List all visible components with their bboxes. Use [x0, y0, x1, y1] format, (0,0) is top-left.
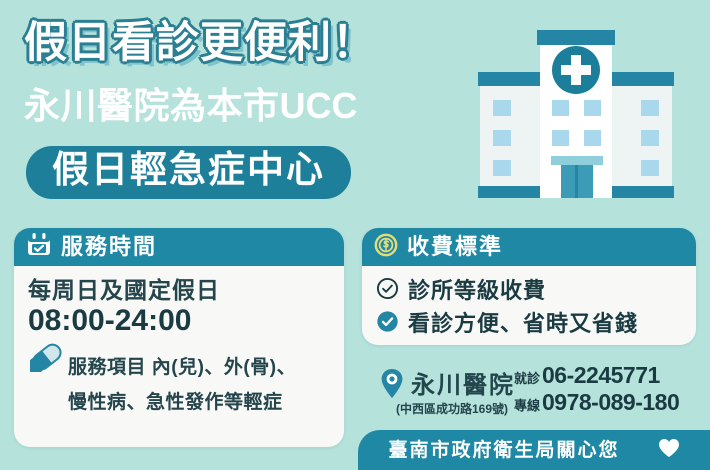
service-name-badge: 假日輕急症中心	[26, 146, 351, 199]
phone-label: 專線	[514, 399, 540, 414]
map-pin-icon	[380, 368, 404, 404]
heart-icon	[658, 438, 680, 463]
pill-capsule-icon	[30, 342, 64, 377]
fee-item-row: 看診方便、省時又省錢	[376, 310, 682, 338]
service-days: 每周日及國定假日	[28, 276, 330, 305]
phone-label: 就診	[514, 372, 540, 387]
hero-subtitle-en: UCC	[280, 85, 358, 126]
hero-section: 假日看診更便利！ 永川醫院為本市UCC 假日輕急症中心	[0, 0, 470, 222]
phone-row: 就診 06-2245771	[514, 364, 679, 387]
service-hours-card-body: 每周日及國定假日 08:00-24:00 服務項目 內(兒)、外(骨)、 慢性病…	[14, 266, 344, 422]
contact-section: 永川醫院 (中西區成功路169號) 就診 06-2245771 專線 0978-…	[372, 358, 702, 420]
poster-root: 假日看診更便利！ 永川醫院為本市UCC 假日輕急症中心	[0, 0, 710, 470]
calendar-check-icon	[26, 232, 52, 263]
fee-item-row: 診所等級收費	[376, 277, 682, 305]
fee-standard-card: 收費標準 診所等級收費 看診方便、省時又省	[362, 228, 696, 345]
hospital-building-icon	[458, 8, 694, 220]
phone-number[interactable]: 06-2245771	[542, 364, 660, 387]
service-hours-card-header: 服務時間	[14, 228, 344, 266]
fee-standard-card-header: 收費標準	[362, 228, 696, 266]
clinic-name: 永川醫院	[411, 374, 515, 398]
fee-item-label: 看診方便、省時又省錢	[408, 313, 638, 335]
service-time-range: 08:00-24:00	[28, 304, 330, 339]
page-title: 假日看診更便利！	[24, 22, 376, 65]
fee-item-label: 診所等級收費	[408, 280, 546, 302]
hero-subtitle: 永川醫院為本市UCC	[24, 88, 358, 124]
footer-bar: 臺南市政府衛生局關心您	[358, 430, 710, 470]
service-items-block: 服務項目 內(兒)、外(骨)、 慢性病、急性發作等輕症	[28, 342, 330, 414]
dollar-coin-icon	[374, 233, 398, 262]
phone-list: 就診 06-2245771 專線 0978-089-180	[514, 364, 679, 418]
footer-text: 臺南市政府衛生局關心您	[388, 441, 619, 460]
fee-standard-card-body: 診所等級收費 看診方便、省時又省錢	[362, 266, 696, 345]
clinic-row: 永川醫院	[380, 368, 515, 404]
phone-row: 專線 0978-089-180	[514, 391, 679, 414]
check-circle-outline-icon	[376, 277, 399, 305]
service-item-line-1: 服務項目 內(兒)、外(骨)、	[28, 342, 330, 379]
clinic-address: (中西區成功路169號)	[396, 400, 508, 417]
hero-subtitle-cn: 永川醫院為本市	[24, 85, 280, 126]
service-hours-title: 服務時間	[61, 236, 157, 258]
check-circle-filled-icon	[376, 310, 399, 338]
fee-standard-title: 收費標準	[407, 236, 503, 258]
service-item-line-2: 慢性病、急性發作等輕症	[28, 379, 330, 414]
phone-number[interactable]: 0978-089-180	[542, 391, 679, 414]
service-hours-card: 服務時間 每周日及國定假日 08:00-24:00 服務項目 內(兒)、外	[14, 228, 344, 447]
